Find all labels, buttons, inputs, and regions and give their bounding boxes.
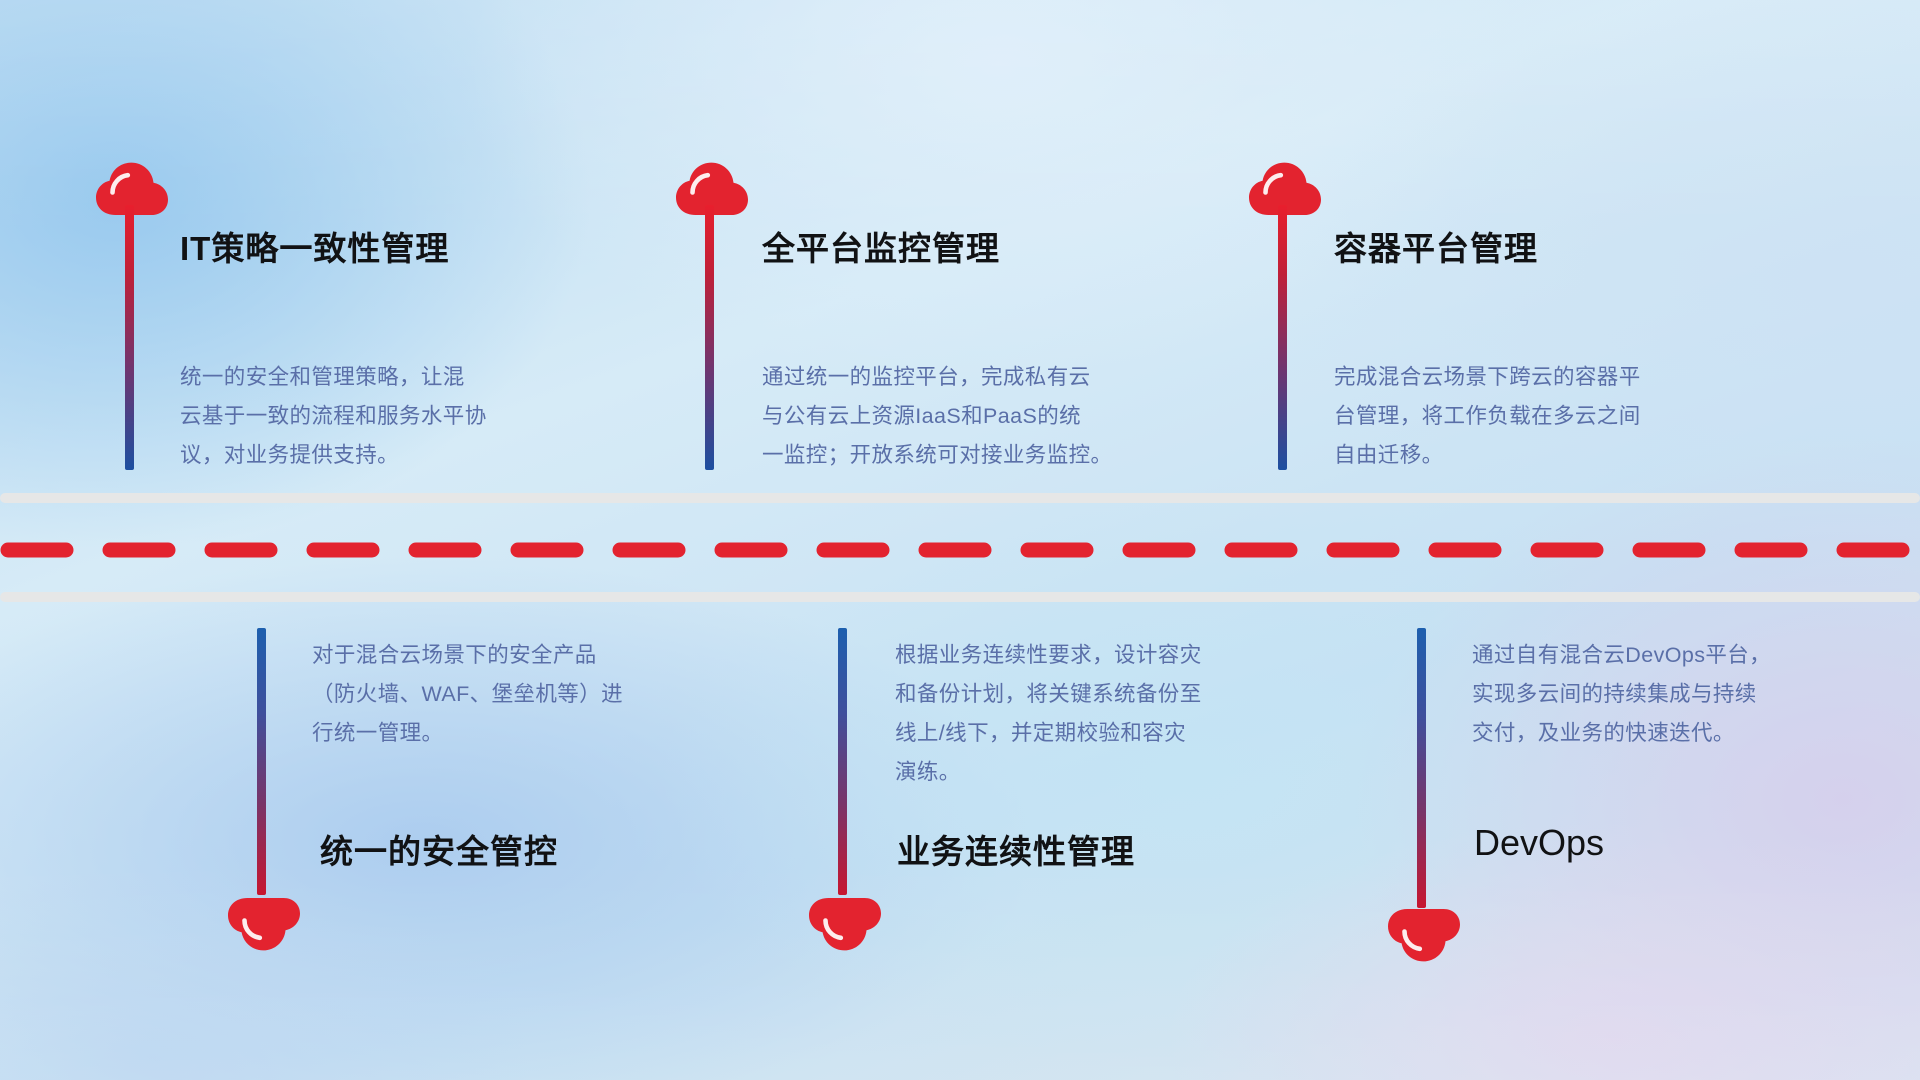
red-dashed-timeline (0, 541, 1920, 559)
solid-rule-lower (0, 592, 1920, 602)
item-title: 统一的安全管控 (320, 825, 558, 873)
item-description: 通过统一的监控平台，完成私有云 与公有云上资源IaaS和PaaS的统 一监控；开… (762, 358, 1202, 475)
item-title: IT策略一致性管理 (180, 222, 449, 270)
item-title: DevOps (1474, 822, 1604, 864)
cloud-icon (808, 897, 882, 951)
item-description: 通过自有混合云DevOps平台， 实现多云间的持续集成与持续 交付，及业务的快速… (1472, 636, 1892, 753)
item-description: 统一的安全和管理策略，让混 云基于一致的流程和服务水平协 议，对业务提供支持。 (180, 358, 600, 475)
infographic-canvas: IT策略一致性管理 统一的安全和管理策略，让混 云基于一致的流程和服务水平协 议… (0, 0, 1920, 1080)
item-title: 业务连续性管理 (897, 825, 1135, 873)
item-description: 根据业务连续性要求，设计容灾 和备份计划，将关键系统备份至 线上/线下，并定期校… (895, 636, 1320, 792)
cloud-icon (1387, 908, 1461, 962)
stem-connector (838, 628, 847, 895)
item-title: 全平台监控管理 (762, 222, 1000, 270)
stem-connector (1278, 205, 1287, 470)
stem-connector (257, 628, 266, 895)
solid-rule-upper (0, 493, 1920, 503)
stem-connector (1417, 628, 1426, 908)
item-description: 完成混合云场景下跨云的容器平 台管理，将工作负载在多云之间 自由迁移。 (1334, 358, 1764, 475)
stem-connector (125, 205, 134, 470)
stem-connector (705, 205, 714, 470)
item-title: 容器平台管理 (1334, 222, 1538, 270)
item-description: 对于混合云场景下的安全产品 （防火墙、WAF、堡垒机等）进 行统一管理。 (312, 636, 732, 753)
cloud-icon (227, 897, 301, 951)
